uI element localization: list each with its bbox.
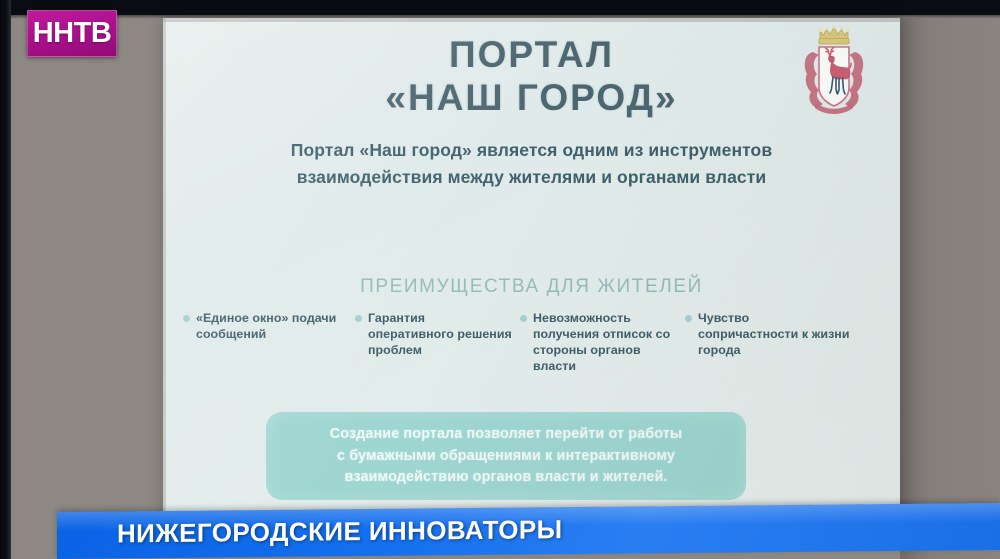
benefits-heading: ПРЕИМУЩЕСТВА ДЛЯ ЖИТЕЛЕЙ xyxy=(163,276,900,298)
benefits-list: «Единое окно» подачи сообщений Гарантия … xyxy=(183,310,883,375)
summary-callout-box: Создание портала позволяет перейти от ра… xyxy=(266,412,746,500)
slide-subtitle-line-1: Портал «Наш город» является одним из инс… xyxy=(203,138,860,164)
presentation-slide: ПОРТАЛ «НАШ ГОРОД» Портал «Наш город» яв… xyxy=(163,18,900,517)
channel-logo-label: ННТВ xyxy=(33,17,112,50)
benefit-item-label: «Единое окно» подачи сообщений xyxy=(196,310,347,342)
lower-third-title: НИЖЕГОРОДСКИЕ ИННОВАТОРЫ xyxy=(117,514,563,549)
benefit-item: «Единое окно» подачи сообщений xyxy=(183,310,355,342)
summary-callout-text: Создание портала позволяет перейти от ра… xyxy=(330,424,683,488)
benefit-item: Невозможность получения отписок со сторо… xyxy=(520,310,685,375)
ceiling-shadow xyxy=(0,0,1000,15)
summary-callout-line-3: взаимодействию органов власти и жителей. xyxy=(330,467,683,488)
slide-title-line-2: «НАШ ГОРОД» xyxy=(163,77,900,120)
slide-title-line-1: ПОРТАЛ xyxy=(163,34,900,75)
slide-top-edge xyxy=(163,18,900,22)
bullet-dot-icon xyxy=(183,315,190,322)
summary-callout-line-1: Создание портала позволяет перейти от ра… xyxy=(330,424,683,445)
slide-title: ПОРТАЛ «НАШ ГОРОД» xyxy=(163,34,900,120)
bullet-dot-icon xyxy=(685,315,692,322)
benefit-item-label: Чувство сопричастности к жизни города xyxy=(698,310,852,358)
right-wall xyxy=(900,18,1000,559)
bullet-dot-icon xyxy=(520,315,527,322)
broadcast-frame: ПОРТАЛ «НАШ ГОРОД» Портал «Наш город» яв… xyxy=(0,0,1000,559)
summary-callout-line-2: с бумажными обращениями к интерактивному xyxy=(330,446,683,467)
bullet-dot-icon xyxy=(355,315,362,322)
benefit-item-label: Гарантия оперативного решения проблем xyxy=(368,310,512,358)
slide-subtitle: Портал «Наш город» является одним из инс… xyxy=(203,138,860,191)
channel-logo: ННТВ xyxy=(27,10,117,57)
slide-subtitle-line-2: взаимодействия между жителями и органами… xyxy=(203,165,860,191)
lower-third-banner: НИЖЕГОРОДСКИЕ ИННОВАТОРЫ xyxy=(57,503,1000,559)
left-dark-edge xyxy=(0,0,11,559)
benefit-item-label: Невозможность получения отписок со сторо… xyxy=(533,310,677,375)
benefit-item: Чувство сопричастности к жизни города xyxy=(685,310,860,358)
benefit-item: Гарантия оперативного решения проблем xyxy=(355,310,520,358)
